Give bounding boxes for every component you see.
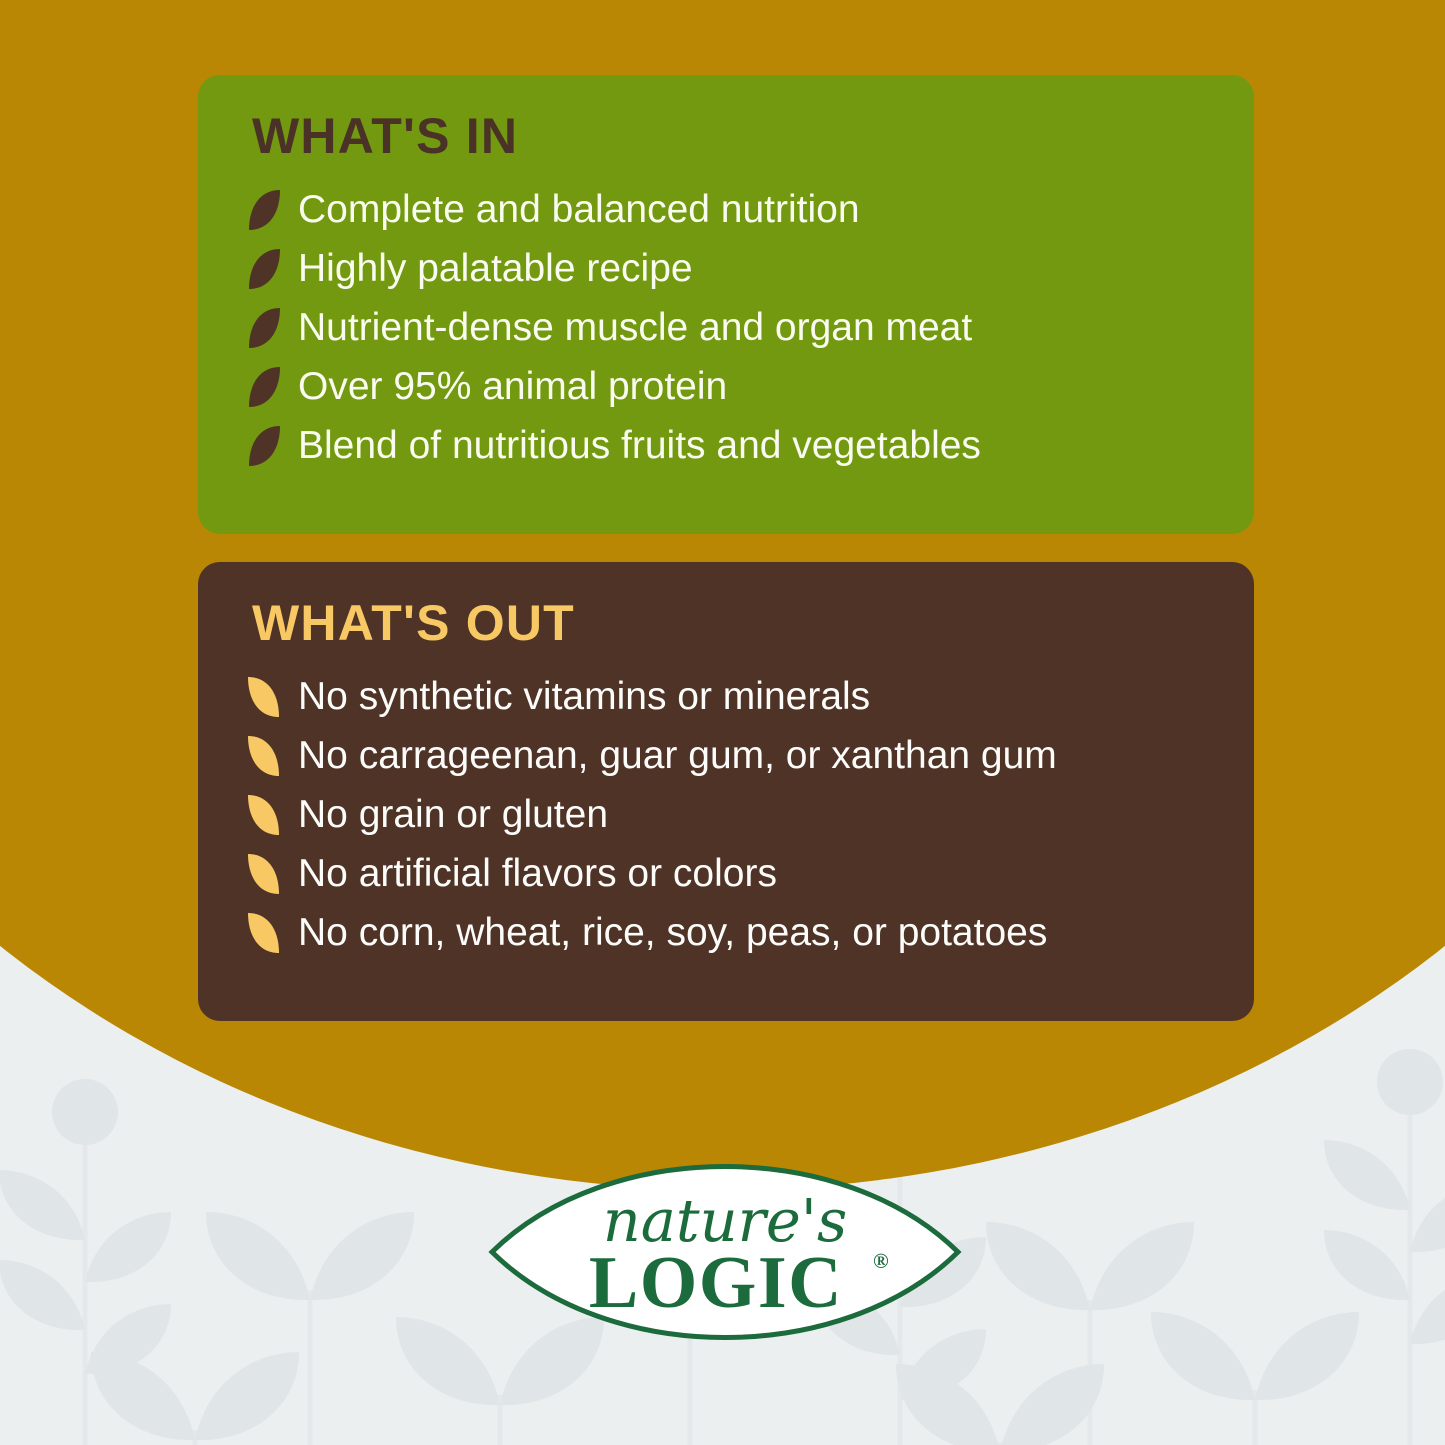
list-item: Highly palatable recipe xyxy=(244,246,1214,292)
list-item-label: No corn, wheat, rice, soy, peas, or pota… xyxy=(298,911,1047,955)
list-item: Blend of nutritious fruits and vegetable… xyxy=(244,423,1214,469)
list-item: Complete and balanced nutrition xyxy=(244,187,1214,233)
list-item-label: No artificial flavors or colors xyxy=(298,852,777,896)
leaf-icon xyxy=(244,305,284,351)
list-item-label: Blend of nutritious fruits and vegetable… xyxy=(298,424,981,468)
leaf-icon xyxy=(244,674,284,720)
registered-trademark-icon: ® xyxy=(873,1249,889,1273)
leaf-icon xyxy=(244,851,284,897)
product-info-graphic: WHAT'S IN Complete and balanced nutritio… xyxy=(0,0,1445,1445)
list-item-label: Highly palatable recipe xyxy=(298,247,693,291)
list-item: No synthetic vitamins or minerals xyxy=(244,674,1214,720)
leaf-icon xyxy=(244,733,284,779)
leaf-icon xyxy=(244,910,284,956)
leaf-icon xyxy=(244,423,284,469)
list-item: No corn, wheat, rice, soy, peas, or pota… xyxy=(244,910,1214,956)
whats-in-title: WHAT'S IN xyxy=(252,111,1214,161)
list-item: Over 95% animal protein xyxy=(244,364,1214,410)
whats-out-panel: WHAT'S OUT No synthetic vitamins or mine… xyxy=(198,562,1254,1021)
list-item: No carrageenan, guar gum, or xanthan gum xyxy=(244,733,1214,779)
whats-in-list: Complete and balanced nutrition Highly p… xyxy=(244,187,1214,469)
list-item: No artificial flavors or colors xyxy=(244,851,1214,897)
whats-out-title: WHAT'S OUT xyxy=(252,598,1214,648)
natures-logic-logo: nature's LOGIC ® xyxy=(488,1152,962,1368)
leaf-icon xyxy=(244,246,284,292)
leaf-icon xyxy=(244,792,284,838)
list-item: Nutrient-dense muscle and organ meat xyxy=(244,305,1214,351)
leaf-icon xyxy=(244,364,284,410)
whats-in-panel: WHAT'S IN Complete and balanced nutritio… xyxy=(198,75,1254,534)
list-item-label: Over 95% animal protein xyxy=(298,365,727,409)
list-item: No grain or gluten xyxy=(244,792,1214,838)
whats-out-list: No synthetic vitamins or minerals No car… xyxy=(244,674,1214,956)
list-item-label: No grain or gluten xyxy=(298,793,608,837)
list-item-label: No carrageenan, guar gum, or xanthan gum xyxy=(298,734,1057,778)
list-item-label: Nutrient-dense muscle and organ meat xyxy=(298,306,972,350)
list-item-label: Complete and balanced nutrition xyxy=(298,188,860,232)
logo-serif-word: LOGIC xyxy=(589,1242,843,1324)
leaf-icon xyxy=(244,187,284,233)
list-item-label: No synthetic vitamins or minerals xyxy=(298,675,870,719)
